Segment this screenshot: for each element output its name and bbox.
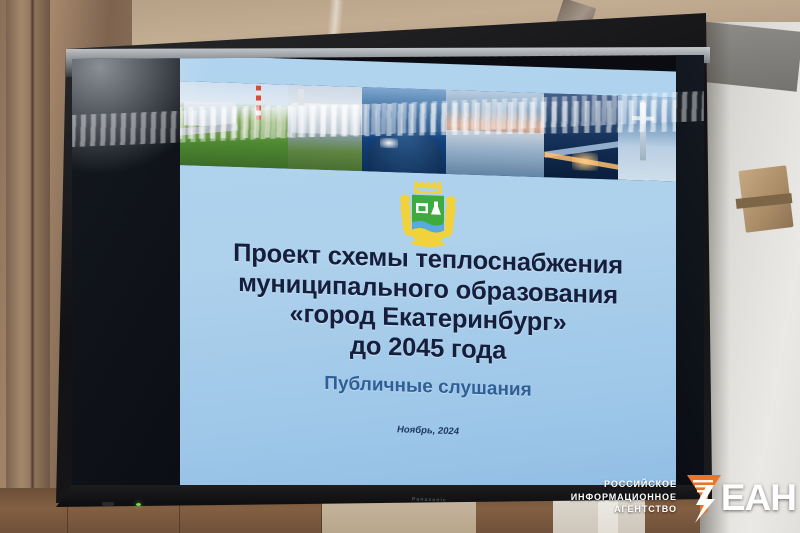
tv-screen: Проект схемы теплоснабжения муниципально… [72, 55, 704, 493]
photo-river-panorama [446, 90, 546, 177]
photo-industrial-plant [288, 85, 364, 172]
screen-letterbox-left [72, 55, 180, 493]
watermark: РОССИЙСКОЕ ИНФОРМАЦИОННОЕ АГЕНТСТВО ЕАН [571, 471, 796, 523]
slide-subtitle: Публичные слушания [178, 368, 678, 407]
ean-funnel-lightning-logo [681, 471, 727, 523]
photo-telecom-tower [618, 96, 678, 182]
screen-letterbox-right [676, 55, 704, 493]
photo-night-city-aerial [362, 87, 448, 174]
watermark-line-1: РОССИЙСКОЕ [571, 478, 677, 490]
ir-receiver [102, 502, 114, 506]
watermark-line-2: ИНФОРМАЦИОННОЕ [571, 491, 677, 503]
television: Проект схемы теплоснабжения муниципально… [40, 13, 712, 503]
photo-highway-interchange [544, 93, 620, 180]
photo-power-plant [178, 81, 290, 169]
tv-brand-label: Panasonic [412, 497, 447, 504]
curtain-fold [30, 0, 35, 533]
power-led-indicator [136, 503, 141, 506]
watermark-logo-text: ЕАН [721, 479, 796, 516]
photo-scene: Проект схемы теплоснабжения муниципально… [0, 0, 800, 533]
yekaterinburg-coat-of-arms [390, 180, 466, 249]
slide-title: Проект схемы теплоснабжения муниципально… [200, 238, 656, 371]
slide-date: Ноябрь, 2024 [178, 417, 678, 445]
watermark-agency-name: РОССИЙСКОЕ ИНФОРМАЦИОННОЕ АГЕНТСТВО [571, 478, 681, 515]
watermark-line-3: АГЕНТСТВО [571, 503, 677, 515]
city-infrastructure-photo-strip [178, 81, 678, 182]
presentation-slide: Проект схемы теплоснабжения муниципально… [178, 55, 678, 493]
